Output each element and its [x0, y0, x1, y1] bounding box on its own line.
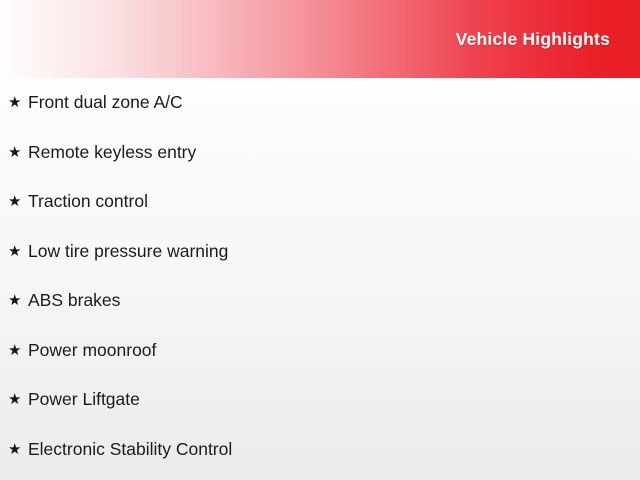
- header-banner: Vehicle Highlights: [0, 0, 640, 78]
- list-item: ★ Power moonroof: [0, 326, 640, 376]
- highlight-label: Front dual zone A/C: [28, 92, 183, 113]
- vehicle-highlights-slide: Vehicle Highlights ★ Front dual zone A/C…: [0, 0, 640, 480]
- list-item: ★ Low tire pressure warning: [0, 227, 640, 277]
- list-item: ★ Remote keyless entry: [0, 128, 640, 178]
- list-item: ★ Power Liftgate: [0, 375, 640, 425]
- list-item: ★ ABS brakes: [0, 276, 640, 326]
- highlight-label: Power Liftgate: [28, 389, 140, 410]
- highlight-label: Traction control: [28, 191, 148, 212]
- highlight-label: Power moonroof: [28, 340, 156, 361]
- star-icon: ★: [8, 145, 28, 160]
- list-item: ★ Traction control: [0, 177, 640, 227]
- highlights-list: ★ Front dual zone A/C ★ Remote keyless e…: [0, 78, 640, 474]
- highlight-label: Low tire pressure warning: [28, 241, 228, 262]
- page-title: Vehicle Highlights: [456, 29, 610, 50]
- highlight-label: ABS brakes: [28, 290, 120, 311]
- star-icon: ★: [8, 392, 28, 407]
- highlight-label: Electronic Stability Control: [28, 439, 232, 460]
- star-icon: ★: [8, 442, 28, 457]
- star-icon: ★: [8, 343, 28, 358]
- list-item: ★ Electronic Stability Control: [0, 425, 640, 475]
- highlight-label: Remote keyless entry: [28, 142, 196, 163]
- star-icon: ★: [8, 293, 28, 308]
- list-item: ★ Front dual zone A/C: [0, 78, 640, 128]
- star-icon: ★: [8, 194, 28, 209]
- star-icon: ★: [8, 244, 28, 259]
- star-icon: ★: [8, 95, 28, 110]
